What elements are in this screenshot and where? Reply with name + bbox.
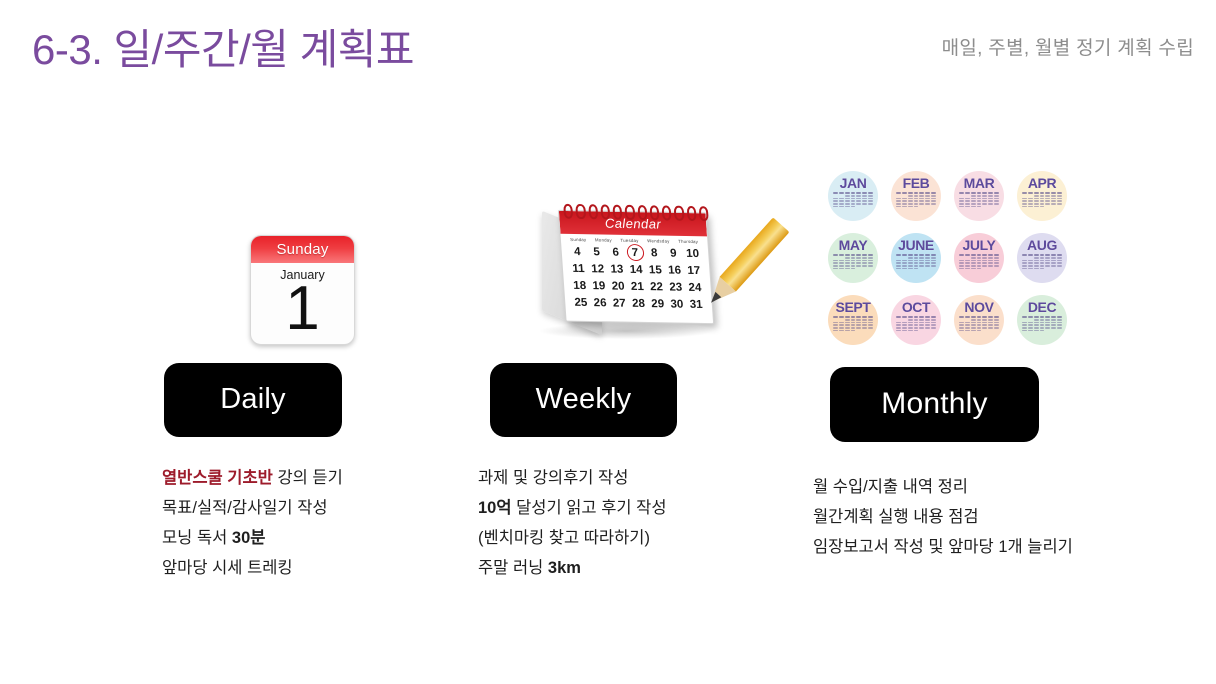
desk-calendar-day: 19	[590, 278, 608, 295]
mini-calendar-grid	[1022, 192, 1062, 207]
month-chip-oct[interactable]: OCT	[891, 295, 941, 345]
month-chip-aug[interactable]: AUG	[1017, 233, 1067, 283]
month-chip-label: MAY	[839, 239, 868, 252]
month-chip-apr[interactable]: APR	[1017, 171, 1067, 221]
desk-calendar-day: 14	[627, 262, 645, 279]
desk-calendar-pencil-icon: Calendar SundayMondayTuesdayWendsdayThur…	[534, 203, 716, 343]
desk-calendar-day: 24	[686, 280, 704, 297]
desk-calendar-day: 26	[591, 295, 609, 312]
calendar-day-icon: Sunday January 1	[250, 235, 355, 345]
month-chip-nov[interactable]: NOV	[954, 295, 1004, 345]
month-chip-label: OCT	[902, 301, 930, 314]
note-line: 열반스쿨 기초반 강의 듣기	[162, 463, 450, 493]
desk-calendar-shadow	[540, 323, 712, 339]
desk-weekday-label: Sunday	[570, 237, 587, 242]
month-chip-label: APR	[1028, 177, 1056, 190]
monthly-icon-area: JANFEBMARAPRMAYJUNEJULYAUGSEPTOCTNOVDEC	[810, 180, 1170, 345]
desk-weekday-label: Thursday	[678, 239, 698, 244]
month-chip-label: SEPT	[836, 301, 871, 314]
note-line: 10억 달성기 읽고 후기 작성	[478, 493, 780, 523]
daily-notes-list: 열반스쿨 기초반 강의 듣기목표/실적/감사일기 작성모닝 독서 30분앞마당 …	[162, 463, 450, 583]
column-weekly: Calendar SundayMondayTuesdayWendsdayThur…	[470, 180, 780, 583]
slide-canvas: 6-3. 일/주간/월 계획표 매일, 주별, 월별 정기 계획 수립 Sund…	[0, 0, 1216, 684]
desk-calendar-day: 30	[668, 296, 686, 313]
desk-calendar-day: 27	[610, 295, 628, 312]
monthly-notes-list: 월 수입/지출 내역 정리월간계획 실행 내용 점검임장보고서 작성 및 앞마당…	[813, 472, 1170, 562]
desk-weekday-label: Wendsday	[647, 238, 670, 243]
daily-button[interactable]: Daily	[164, 363, 342, 437]
mini-calendar-grid	[896, 316, 936, 331]
note-segment: 10억	[478, 499, 512, 517]
note-segment: 주말 러닝	[478, 559, 548, 577]
desk-calendar-day: 23	[667, 279, 685, 296]
note-line: 모닝 독서 30분	[162, 523, 450, 553]
note-line: 과제 및 강의후기 작성	[478, 463, 780, 493]
note-line: 주말 러닝 3km	[478, 553, 780, 583]
note-segment: 과제 및 강의후기 작성	[478, 469, 628, 487]
note-segment: 30분	[232, 529, 266, 547]
mini-calendar-grid	[959, 254, 999, 269]
mini-calendar-grid	[1022, 316, 1062, 331]
desk-calendar-day: 20	[609, 278, 627, 295]
note-segment: 열반스쿨 기초반	[162, 469, 273, 487]
note-segment: 강의 듣기	[273, 469, 343, 487]
month-chip-label: NOV	[964, 301, 993, 314]
weekly-notes-list: 과제 및 강의후기 작성10억 달성기 읽고 후기 작성(벤치마킹 찾고 따라하…	[478, 463, 780, 583]
desk-weekday-label: Tuesday	[620, 238, 638, 243]
desk-calendar-day: 6	[607, 245, 625, 262]
desk-calendar-grid: 4567891011121314151617181920212223242526…	[561, 243, 712, 314]
page-title: 6-3. 일/주간/월 계획표	[32, 16, 414, 77]
weekly-button[interactable]: Weekly	[490, 363, 677, 437]
mini-calendar-grid	[959, 316, 999, 331]
note-line: 임장보고서 작성 및 앞마당 1개 늘리기	[813, 532, 1170, 562]
month-chip-mar[interactable]: MAR	[954, 171, 1004, 221]
mini-calendar-grid	[896, 254, 936, 269]
month-chip-july[interactable]: JULY	[954, 233, 1004, 283]
note-line: 월 수입/지출 내역 정리	[813, 472, 1170, 502]
desk-weekday-label: Monday	[595, 237, 612, 242]
desk-calendar-day: 5	[587, 244, 605, 261]
desk-calendar-day: 28	[629, 296, 647, 313]
note-segment: 3km	[548, 559, 581, 577]
month-chip-label: JULY	[963, 239, 996, 252]
month-chip-label: JUNE	[898, 239, 934, 252]
desk-calendar-day: 10	[684, 246, 702, 263]
page-subtitle: 매일, 주별, 월별 정기 계획 수립	[942, 33, 1194, 60]
desk-calendar-day: 13	[608, 262, 626, 279]
month-chip-label: FEB	[903, 177, 930, 190]
mini-calendar-grid	[833, 254, 873, 269]
month-chip-may[interactable]: MAY	[828, 233, 878, 283]
desk-calendar-day: 22	[648, 279, 666, 296]
desk-calendar-day: 18	[571, 278, 589, 295]
month-chip-feb[interactable]: FEB	[891, 171, 941, 221]
desk-calendar-day: 17	[685, 263, 703, 280]
mini-calendar-grid	[959, 192, 999, 207]
desk-calendar-day: 21	[628, 279, 646, 296]
desk-calendar-day: 12	[589, 261, 607, 278]
note-segment: 모닝 독서	[162, 529, 232, 547]
note-segment: 임장보고서 작성 및 앞마당 1개 늘리기	[813, 538, 1073, 556]
note-line: 월간계획 실행 내용 점검	[813, 502, 1170, 532]
note-segment: 달성기 읽고 후기 작성	[512, 499, 667, 517]
desk-calendar-day: 8	[645, 245, 663, 262]
column-daily: Sunday January 1 Daily 열반스쿨 기초반 강의 듣기목표/…	[150, 180, 450, 583]
weekly-icon-area: Calendar SundayMondayTuesdayWendsdayThur…	[470, 180, 780, 345]
desk-calendar-day: 7	[626, 245, 644, 262]
calendar-day-number: 1	[251, 280, 354, 338]
month-circles-icon: JANFEBMARAPRMAYJUNEJULYAUGSEPTOCTNOVDEC	[828, 171, 1067, 345]
month-chip-dec[interactable]: DEC	[1017, 295, 1067, 345]
mini-calendar-grid	[896, 192, 936, 207]
note-segment: 목표/실적/감사일기 작성	[162, 499, 328, 517]
note-segment: 월 수입/지출 내역 정리	[813, 478, 968, 496]
desk-calendar-day: 25	[572, 295, 590, 312]
column-monthly: JANFEBMARAPRMAYJUNEJULYAUGSEPTOCTNOVDEC …	[810, 180, 1170, 562]
month-chip-jan[interactable]: JAN	[828, 171, 878, 221]
note-line: (벤치마킹 찾고 따라하기)	[478, 523, 780, 553]
month-chip-june[interactable]: JUNE	[891, 233, 941, 283]
pencil-icon	[701, 217, 790, 312]
note-line: 앞마당 시세 트레킹	[162, 553, 450, 583]
calendar-weekday-label: Sunday	[251, 236, 354, 263]
daily-icon-area: Sunday January 1	[150, 180, 450, 345]
desk-calendar-day: 16	[666, 263, 684, 280]
desk-calendar-day: 15	[646, 262, 664, 279]
note-segment: 월간계획 실행 내용 점검	[813, 508, 979, 526]
month-chip-label: MAR	[964, 177, 995, 190]
desk-calendar-day: 29	[649, 296, 667, 313]
month-chip-label: JAN	[840, 177, 867, 190]
month-chip-label: AUG	[1027, 239, 1057, 252]
desk-calendar-day: 4	[568, 244, 586, 261]
mini-calendar-grid	[833, 192, 873, 207]
note-segment: (벤치마킹 찾고 따라하기)	[478, 529, 650, 547]
desk-calendar-day: 9	[664, 246, 682, 263]
note-line: 목표/실적/감사일기 작성	[162, 493, 450, 523]
monthly-button[interactable]: Monthly	[830, 367, 1039, 442]
month-chip-sept[interactable]: SEPT	[828, 295, 878, 345]
desk-calendar-row: 25262728293031	[571, 295, 707, 314]
month-chip-label: DEC	[1028, 301, 1056, 314]
note-segment: 앞마당 시세 트레킹	[162, 559, 293, 577]
desk-calendar-page: Calendar SundayMondayTuesdayWendsdayThur…	[558, 210, 714, 324]
mini-calendar-grid	[1022, 254, 1062, 269]
spiral-binding-icon	[563, 204, 709, 222]
desk-calendar-day: 11	[569, 261, 587, 278]
mini-calendar-grid	[833, 316, 873, 331]
